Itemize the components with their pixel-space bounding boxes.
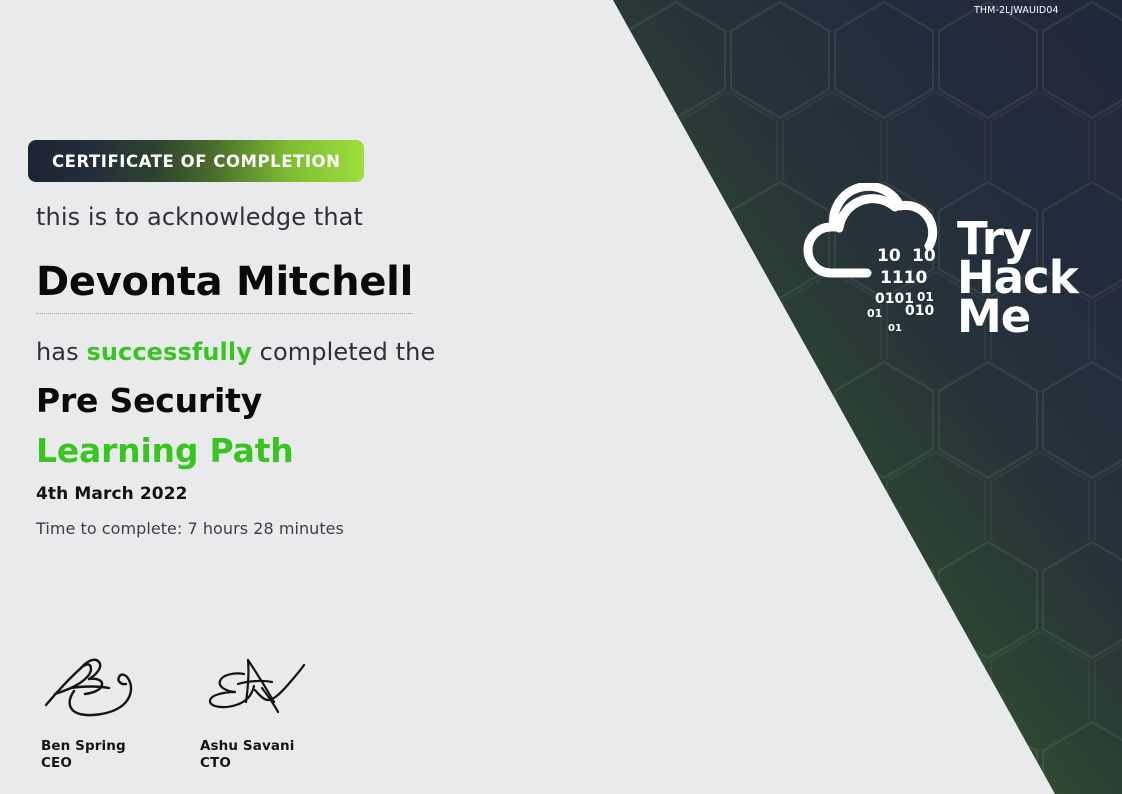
signature-block-cto: Ashu Savani CTO [200, 650, 380, 780]
tryhackme-logo: 10 10 1110 0101 01 01 010 01 Try Hack Me [795, 183, 1080, 338]
svg-text:10: 10 [912, 246, 936, 266]
certificate-badge: CERTIFICATE OF COMPLETION [28, 140, 364, 182]
signature-mark-ben-spring [41, 650, 151, 720]
signatory-role: CTO [200, 755, 231, 771]
svg-text:1110: 1110 [880, 268, 927, 288]
acknowledge-text: this is to acknowledge that [36, 203, 363, 231]
completion-prefix: has [36, 338, 86, 366]
recipient-name: Devonta Mitchell [36, 258, 413, 314]
logo-line-me: Me [957, 290, 1030, 338]
svg-text:010: 010 [905, 303, 934, 319]
svg-text:10: 10 [877, 246, 901, 266]
signature-block-ceo: Ben Spring CEO [41, 650, 221, 780]
issue-date: 4th March 2022 [36, 484, 188, 504]
signatory-role: CEO [41, 755, 72, 771]
time-to-complete: Time to complete: 7 hours 28 minutes [36, 519, 344, 538]
svg-text:01: 01 [888, 323, 902, 334]
signature-area: Ben Spring CEO Ashu Savani [36, 650, 456, 780]
svg-text:01: 01 [867, 307, 882, 320]
course-title: Pre Security [36, 382, 262, 420]
certificate-id: THM-2LJWAUID04 [974, 5, 1064, 16]
signature-mark-ashu-savani [200, 650, 310, 720]
course-subtitle: Learning Path [36, 432, 294, 470]
certificate-content: CERTIFICATE OF COMPLETION this is to ack… [36, 0, 596, 794]
svg-text:01: 01 [917, 290, 934, 304]
completion-emphasis: successfully [86, 338, 252, 366]
binary-digits: 10 10 1110 0101 01 01 010 01 [867, 246, 936, 334]
signatory-name: Ben Spring [41, 738, 126, 754]
completion-suffix: completed the [252, 338, 435, 366]
completion-statement: has successfully completed the [36, 338, 435, 366]
signatory-name: Ashu Savani [200, 738, 295, 754]
logo-wordmark: Try Hack Me [957, 212, 1080, 338]
